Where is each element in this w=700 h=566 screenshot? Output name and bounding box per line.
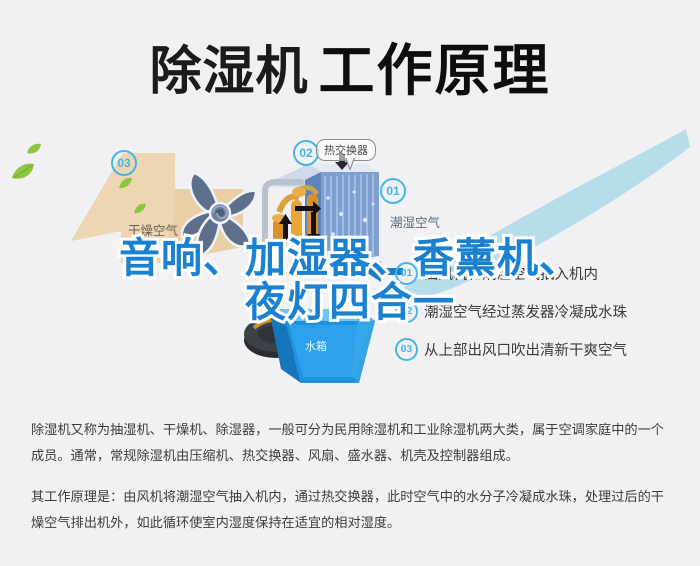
description-paragraph-1: 除湿机又称为抽湿机、干燥机、除湿器，一般可分为民用除湿机和工业除湿机两大类，属于… [31,418,676,469]
page-title: 除湿机工作原理 [0,26,700,107]
leaf-icon [118,176,133,190]
step-item: 03 从上部出风口吹出清新干爽空气 [395,339,695,359]
leaf-icon [133,202,147,215]
leaf-icon [26,142,42,156]
label-humid-air: 潮湿空气 [390,212,440,231]
step-number-03: 03 [395,338,418,361]
step-item: 02 潮湿空气经过蒸发器冷凝成水珠 [395,301,695,321]
leaf-icon [11,162,35,181]
step-text-02: 潮湿空气经过蒸发器冷凝成水珠 [424,301,627,322]
step-item: 01 由风机将潮湿空气抽入机内 [395,263,695,283]
page-title-part2: 工作原理 [319,39,551,104]
steps-list: 01 由风机将潮湿空气抽入机内 02 潮湿空气经过蒸发器冷凝成水珠 03 从上部… [395,263,695,377]
diagram-badge-03: 03 [111,150,137,176]
step-number-02: 02 [395,300,418,323]
fan-icon [160,155,280,270]
step-text-01: 由风机将潮湿空气抽入机内 [424,263,598,284]
step-text-03: 从上部出风口吹出清新干爽空气 [424,339,627,360]
diagram-badge-01: 01 [380,178,406,204]
page-title-part1: 除湿机 [149,42,308,102]
label-dry-air: 干燥空气 [128,220,178,239]
callout-tail-icon [345,158,355,171]
step-number-01: 01 [395,262,418,285]
description-paragraph-2: 其工作原理是：由风机将潮湿空气抽入机内，通过热交换器，此时空气中的水分子冷凝成水… [31,485,676,536]
infographic-page: 除湿机工作原理 [0,0,700,566]
description-block: 除湿机又称为抽湿机、干燥机、除湿器，一般可分为民用除湿机和工业除湿机两大类，属于… [31,418,676,553]
